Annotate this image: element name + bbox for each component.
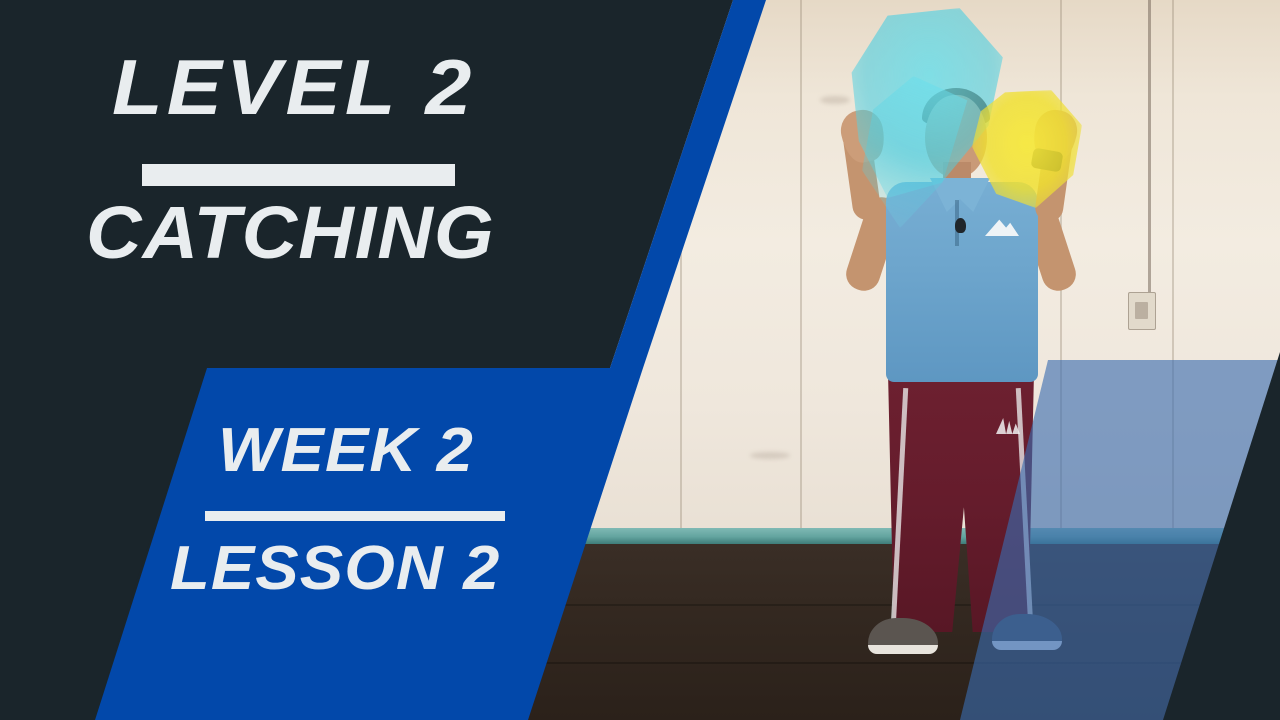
schedule-divider-rule — [205, 511, 505, 521]
title-divider-rule — [142, 164, 455, 186]
lesson-label: LESSON 2 — [170, 538, 500, 600]
week-label: WEEK 2 — [218, 420, 474, 482]
topic-label: CATCHING — [86, 196, 495, 270]
title-card-slide: LEVEL 2 CATCHING WEEK 2 LESSON 2 — [0, 0, 1280, 720]
level-label: LEVEL 2 — [112, 48, 476, 126]
clip-microphone-icon — [955, 218, 966, 233]
